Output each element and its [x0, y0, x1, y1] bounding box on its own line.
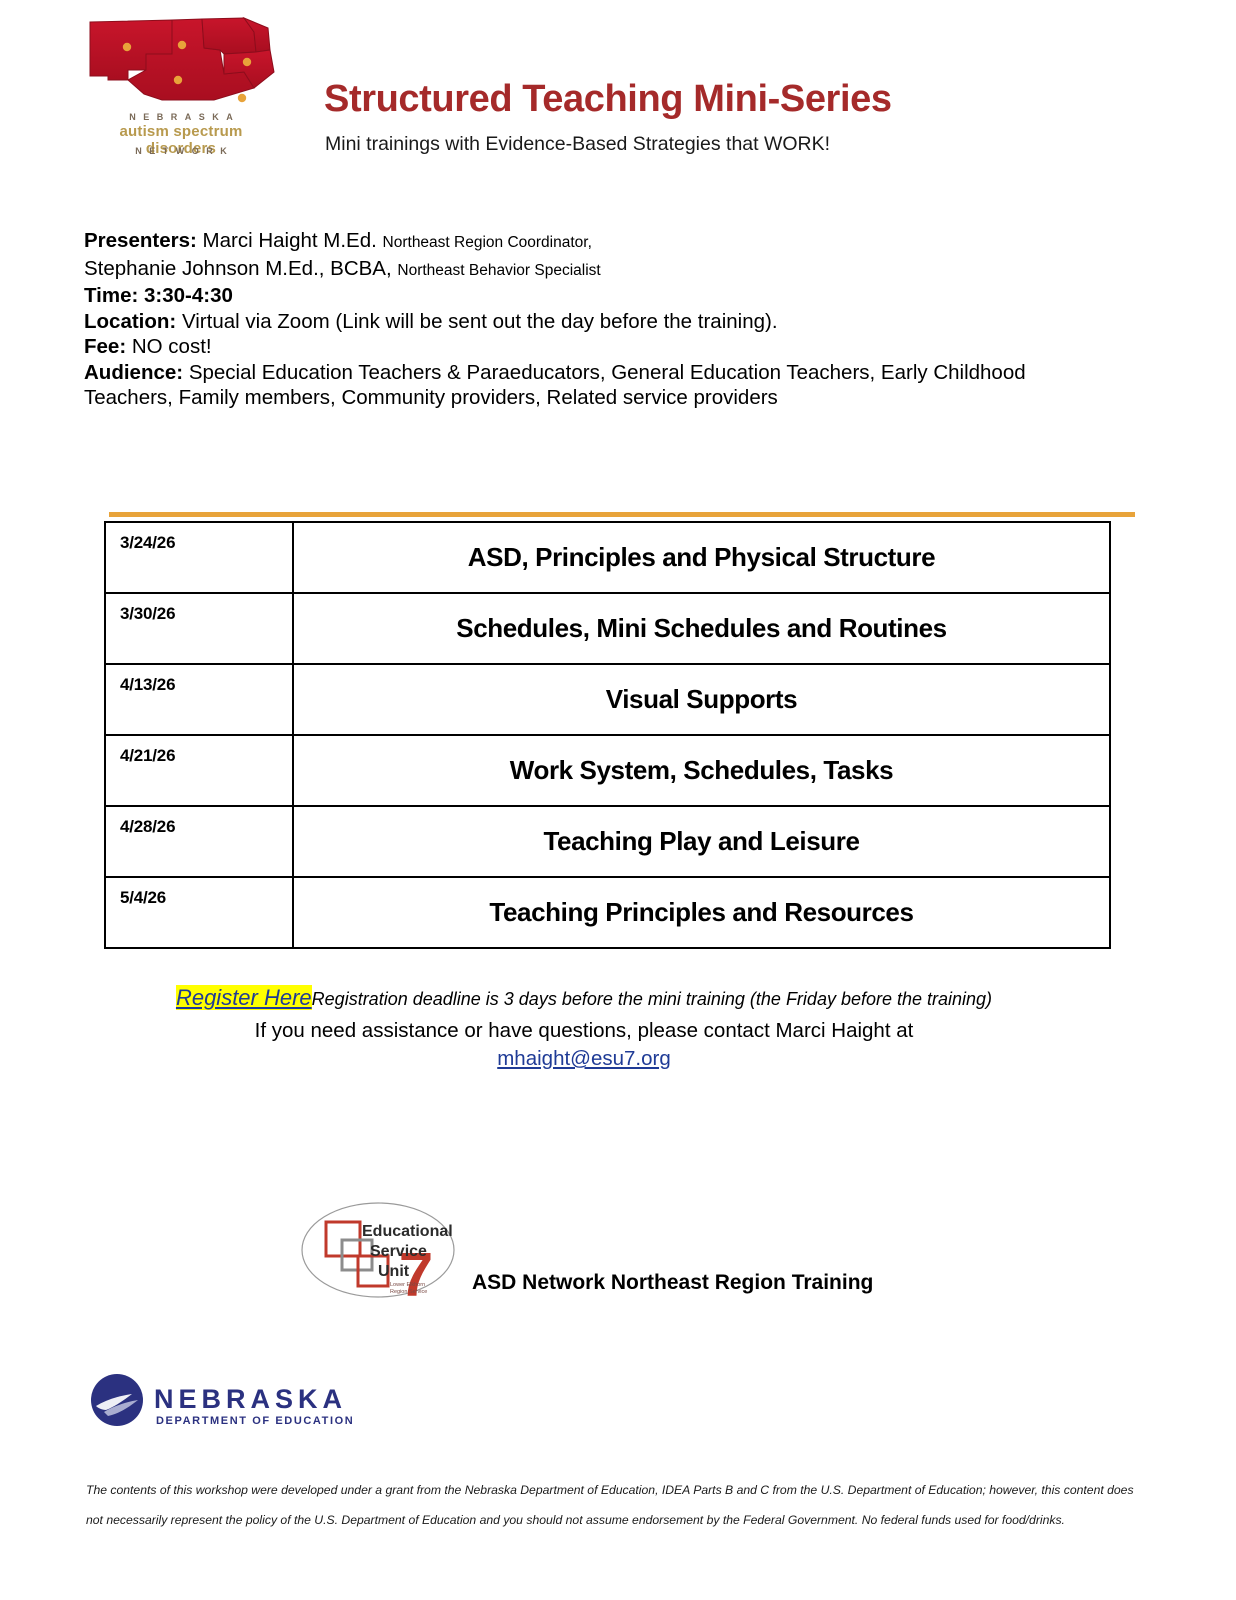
fee-value: NO cost! — [132, 335, 212, 358]
schedule-topic: ASD, Principles and Physical Structure — [293, 522, 1110, 593]
presenter-2-role: Northeast Behavior Specialist — [397, 262, 600, 279]
location-value: Virtual via Zoom (Link will be sent out … — [182, 310, 778, 333]
svg-text:Unit: Unit — [378, 1263, 410, 1280]
schedule-date: 3/24/26 — [105, 522, 293, 593]
svg-text:Lower Elkhorn: Lower Elkhorn — [390, 1282, 425, 1288]
audience-value: Special Education Teachers & Paraeducato… — [84, 361, 1026, 409]
asd-logo-line-bottom: NETWORK — [86, 146, 276, 156]
schedule-date: 4/13/26 — [105, 664, 293, 735]
schedule-date: 4/28/26 — [105, 806, 293, 877]
nebraska-dept-education-logo-icon: NEBRASKA DEPARTMENT OF EDUCATION — [88, 1370, 428, 1432]
schedule-date: 5/4/26 — [105, 877, 293, 948]
gold-divider — [109, 512, 1135, 517]
time-value: 3:30-4:30 — [144, 284, 233, 307]
time-label: Time: — [84, 284, 138, 307]
event-details: Presenters: Marci Haight M.Ed. Northeast… — [84, 228, 1084, 410]
location-label: Location: — [84, 310, 176, 333]
svg-text:DEPARTMENT OF EDUCATION: DEPARTMENT OF EDUCATION — [156, 1415, 354, 1427]
svg-text:Educational: Educational — [362, 1223, 453, 1240]
register-here-link[interactable]: Register Here — [176, 985, 312, 1010]
svg-text:NEBRASKA: NEBRASKA — [154, 1384, 347, 1414]
nde-logo-block: NEBRASKA DEPARTMENT OF EDUCATION — [88, 1370, 428, 1432]
fee-line: Fee: NO cost! — [84, 334, 1084, 360]
asd-logo-line-top: NEBRASKA — [86, 112, 276, 122]
presenter-2-line: Stephanie Johnson M.Ed., BCBA, Northeast… — [84, 256, 1084, 284]
svg-text:Region Service: Region Service — [390, 1289, 427, 1295]
time-line: Time: 3:30-4:30 — [84, 283, 1084, 309]
schedule-table: 3/24/26 ASD, Principles and Physical Str… — [104, 521, 1111, 949]
schedule-topic: Work System, Schedules, Tasks — [293, 735, 1110, 806]
presenters-line: Presenters: Marci Haight M.Ed. Northeast… — [84, 228, 1084, 256]
table-row: 4/21/26 Work System, Schedules, Tasks — [105, 735, 1110, 806]
contact-email-link[interactable]: mhaight@esu7.org — [497, 1047, 671, 1071]
esu7-logo-icon: 7 Educational Service Unit Lower Elkhorn… — [300, 1198, 470, 1303]
page-subtitle: Mini trainings with Evidence-Based Strat… — [325, 133, 830, 156]
audience-label: Audience: — [84, 361, 183, 384]
table-row: 4/13/26 Visual Supports — [105, 664, 1110, 735]
registration-block: Register HereRegistration deadline is 3 … — [84, 985, 1084, 1071]
schedule-topic: Teaching Principles and Resources — [293, 877, 1110, 948]
schedule-date: 3/30/26 — [105, 593, 293, 664]
location-line: Location: Virtual via Zoom (Link will be… — [84, 309, 1084, 335]
table-row: 4/28/26 Teaching Play and Leisure — [105, 806, 1110, 877]
schedule-table-body: 3/24/26 ASD, Principles and Physical Str… — [105, 522, 1110, 948]
esu7-logo-block: 7 Educational Service Unit Lower Elkhorn… — [300, 1198, 940, 1308]
schedule-date: 4/21/26 — [105, 735, 293, 806]
nebraska-map-icon — [84, 14, 280, 114]
schedule-topic: Teaching Play and Leisure — [293, 806, 1110, 877]
schedule-topic: Visual Supports — [293, 664, 1110, 735]
audience-line: Audience: Special Education Teachers & P… — [84, 360, 1084, 410]
table-row: 3/30/26 Schedules, Mini Schedules and Ro… — [105, 593, 1110, 664]
presenters-label: Presenters: — [84, 229, 197, 252]
assistance-line: If you need assistance or have questions… — [84, 1016, 1084, 1045]
presenter-2-name: Stephanie Johnson M.Ed., BCBA, — [84, 257, 392, 280]
presenter-1-role: Northeast Region Coordinator, — [383, 234, 592, 251]
svg-text:Service: Service — [370, 1243, 427, 1260]
footer-disclaimer: The contents of this workshop were devel… — [86, 1475, 1144, 1535]
fee-label: Fee: — [84, 335, 126, 358]
registration-deadline-line: Register HereRegistration deadline is 3 … — [84, 985, 1084, 1012]
esu7-caption: ASD Network Northeast Region Training — [472, 1271, 873, 1295]
presenter-1-name: Marci Haight M.Ed. — [203, 229, 377, 252]
schedule-topic: Schedules, Mini Schedules and Routines — [293, 593, 1110, 664]
page-title: Structured Teaching Mini-Series — [324, 78, 892, 121]
page-header: NEBRASKA autism spectrum disorders NETWO… — [0, 0, 1236, 185]
registration-deadline-note: Registration deadline is 3 days before t… — [312, 989, 992, 1009]
table-row: 5/4/26 Teaching Principles and Resources — [105, 877, 1110, 948]
table-row: 3/24/26 ASD, Principles and Physical Str… — [105, 522, 1110, 593]
